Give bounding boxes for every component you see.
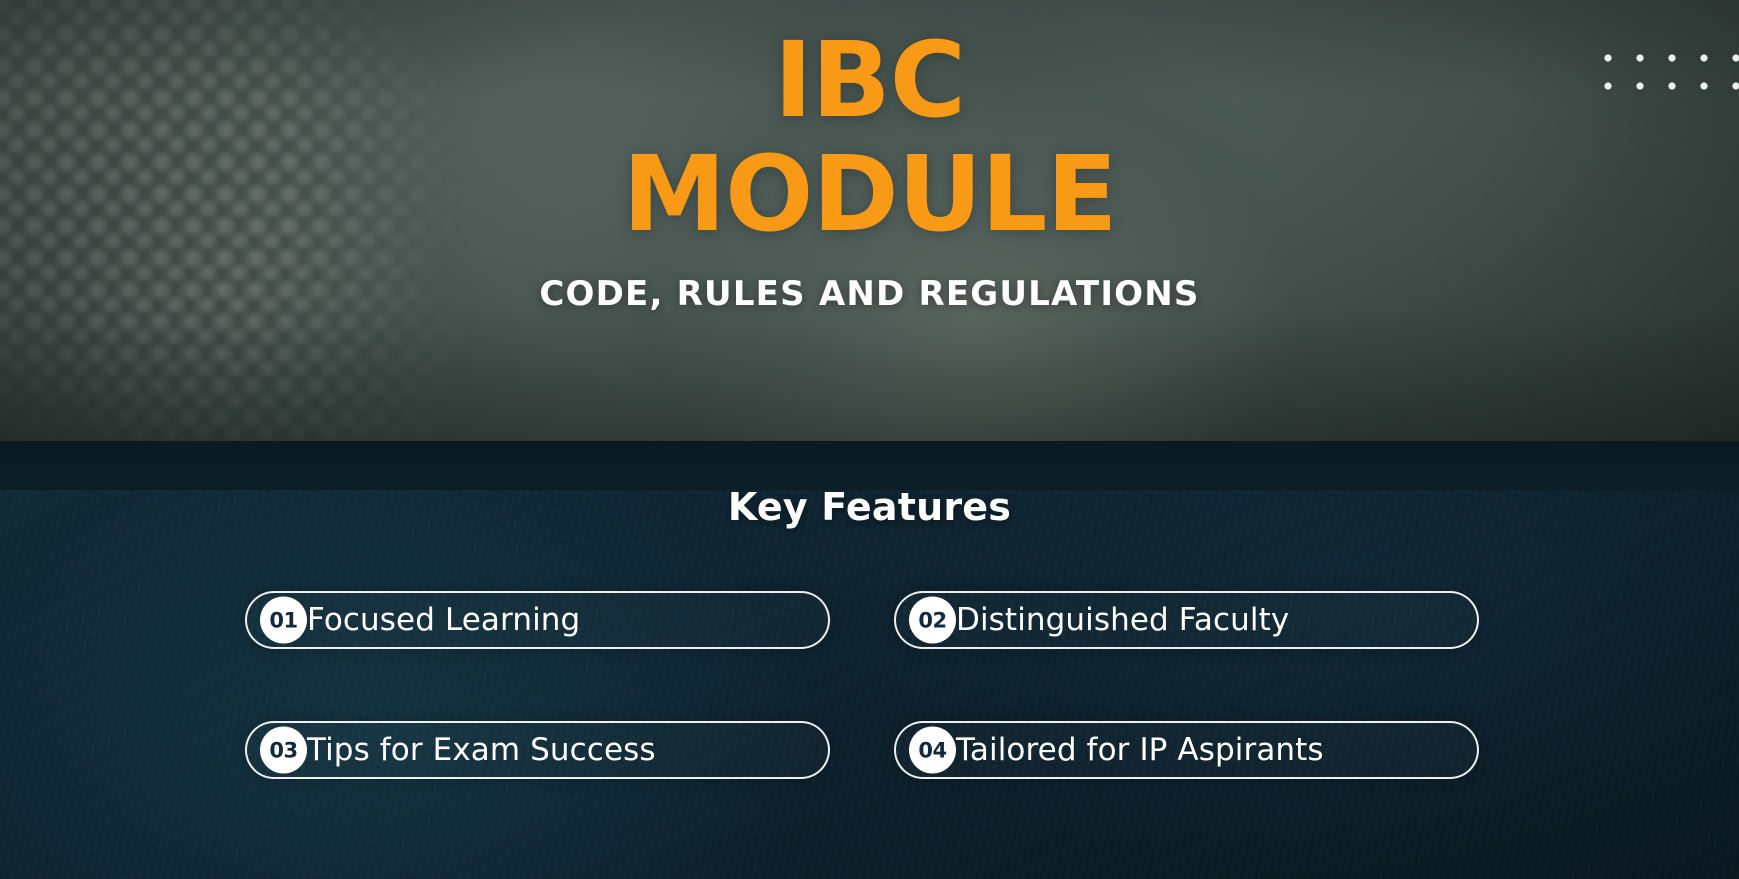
- feature-number-badge-04: 04: [909, 727, 956, 774]
- feature-label-04: Tailored for IP Aspirants: [956, 732, 1324, 768]
- feature-label-03: Tips for Exam Success: [307, 732, 656, 768]
- feature-pill-03[interactable]: 03 Tips for Exam Success: [245, 721, 830, 779]
- hero-section: IBC MODULE CODE, RULES AND REGULATIONS: [0, 0, 1739, 441]
- feature-pill-grid: 01 Focused Learning 02 Distinguished Fac…: [245, 591, 1478, 779]
- key-features-heading: Key Features: [0, 490, 1739, 529]
- feature-row-1: 01 Focused Learning 02 Distinguished Fac…: [245, 591, 1478, 649]
- page-title-line-2: MODULE: [0, 142, 1739, 246]
- feature-number-badge-01: 01: [260, 597, 307, 644]
- feature-label-01: Focused Learning: [307, 602, 580, 638]
- slide-canvas: IBC MODULE CODE, RULES AND REGULATIONS K…: [0, 0, 1739, 879]
- page-subtitle: CODE, RULES AND REGULATIONS: [0, 274, 1739, 314]
- feature-label-02: Distinguished Faculty: [956, 602, 1289, 638]
- feature-number-badge-03: 03: [260, 727, 307, 774]
- page-title-line-1: IBC: [0, 28, 1739, 132]
- section-divider: [0, 441, 1739, 490]
- feature-row-2: 03 Tips for Exam Success 04 Tailored for…: [245, 721, 1478, 779]
- feature-pill-04[interactable]: 04 Tailored for IP Aspirants: [894, 721, 1479, 779]
- feature-number-badge-02: 02: [909, 597, 956, 644]
- feature-pill-02[interactable]: 02 Distinguished Faculty: [894, 591, 1479, 649]
- key-features-section: Key Features 01 Focused Learning 02 Dist…: [0, 490, 1739, 879]
- hero-text-block: IBC MODULE CODE, RULES AND REGULATIONS: [0, 0, 1739, 314]
- feature-pill-01[interactable]: 01 Focused Learning: [245, 591, 830, 649]
